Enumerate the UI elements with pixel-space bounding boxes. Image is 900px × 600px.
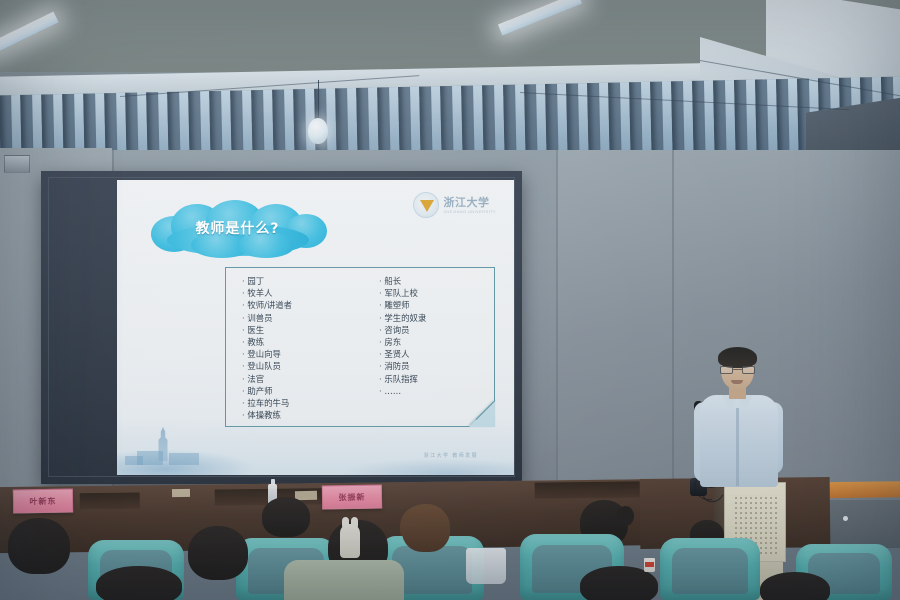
audience-bag — [466, 548, 506, 584]
podium-perforation — [760, 542, 762, 544]
nameplate-right-label: 张振新 — [338, 491, 365, 502]
podium-perforation — [755, 517, 757, 519]
ceiling — [0, 0, 900, 170]
podium-perforation — [745, 512, 747, 514]
slide-list-item: 助产师 — [242, 385, 357, 397]
audience-head — [262, 497, 310, 537]
wall-seam-b — [672, 150, 674, 480]
podium-perforation — [770, 517, 772, 519]
slide-list-item: 乐队指挥 — [379, 373, 494, 385]
slide-title-text: 教师是什么? — [145, 218, 330, 238]
pendant-cord — [318, 80, 319, 122]
wall-seam-a — [556, 150, 558, 480]
podium-perforation — [770, 527, 772, 529]
podium-perforation — [775, 552, 777, 554]
pendant-lamp-icon — [308, 118, 328, 144]
podium-perforation — [770, 552, 772, 554]
podium-perforation — [735, 532, 737, 534]
presentation-slide[interactable]: 教师是什么? 浙江大学 ZHEJIANG UNIVERSITY 园丁牧羊人牧师/… — [117, 180, 514, 475]
podium-perforation — [765, 522, 767, 524]
slide-list-item: 学生的奴隶 — [379, 312, 494, 324]
podium-perforation — [755, 527, 757, 529]
slide-list-column-left: 园丁牧羊人牧师/讲道者训兽员医生教练登山向导登山队员法官助产师拉车的牛马体操教练 — [226, 275, 357, 426]
slide-list-item: 船长 — [379, 275, 494, 287]
slide-list-item: 牧羊人 — [242, 287, 357, 299]
podium-perforation — [775, 522, 777, 524]
podium-perforation — [765, 552, 767, 554]
podium-perforation — [765, 542, 767, 544]
raised-hand-icon — [340, 524, 360, 558]
podium-perforation — [745, 532, 747, 534]
audience-head — [188, 526, 248, 580]
podium-perforation — [740, 532, 742, 534]
podium-perforation — [770, 512, 772, 514]
podium-perforation — [755, 512, 757, 514]
podium-perforation — [760, 532, 762, 534]
slide-list-item: 拉车的牛马 — [242, 397, 357, 409]
podium-perforation — [765, 532, 767, 534]
podium-perforation — [770, 547, 772, 549]
podium-perforation — [765, 547, 767, 549]
podium-perforation — [770, 532, 772, 534]
slide-list-item: 园丁 — [242, 275, 357, 287]
speaker-shirt — [700, 395, 778, 487]
podium-perforation — [745, 527, 747, 529]
slide-list-item: 消防员 — [379, 360, 494, 372]
podium-perforation — [750, 532, 752, 534]
slide-list-item: 军队上校 — [379, 287, 494, 299]
speaker-person — [690, 350, 800, 510]
podium-perforation — [765, 527, 767, 529]
podium-perforation — [770, 542, 772, 544]
podium-perforation — [740, 527, 742, 529]
podium-perforation — [775, 542, 777, 544]
paper-cup-icon — [644, 558, 655, 572]
podium-perforation — [760, 547, 762, 549]
slide-list-item: 法官 — [242, 373, 357, 385]
slide-footer-text: 浙江大学 教师发展 — [424, 452, 478, 459]
desk-paper-right — [172, 489, 190, 497]
slide-list-item: 咨询员 — [379, 324, 494, 336]
podium-perforation — [765, 537, 767, 539]
podium-perforation — [760, 517, 762, 519]
nameplate-right: 张振新 — [322, 484, 382, 509]
podium-perforation — [745, 517, 747, 519]
podium-perforation — [775, 517, 777, 519]
slide-list-item: 登山向导 — [242, 348, 357, 360]
audience-person-torso — [284, 560, 404, 600]
slide-list-item: 圣贤人 — [379, 348, 494, 360]
logo-english-name: ZHEJIANG UNIVERSITY — [444, 210, 497, 214]
university-emblem-icon — [413, 192, 439, 218]
university-logo: 浙江大学 ZHEJIANG UNIVERSITY — [413, 192, 497, 218]
podium-perforation — [745, 522, 747, 524]
podium-perforation — [775, 547, 777, 549]
podium-perforation — [760, 512, 762, 514]
slide-list-item: 教练 — [242, 336, 357, 348]
slide-list-item: 牧师/讲道者 — [242, 299, 357, 311]
podium-perforation — [755, 537, 757, 539]
slide-list-item: 房东 — [379, 336, 494, 348]
podium-perforation — [755, 532, 757, 534]
podium-perforation — [740, 512, 742, 514]
slide-list-item: 登山队员 — [242, 360, 357, 372]
slide-list-item: 雕塑师 — [379, 299, 494, 311]
glasses-icon — [720, 366, 755, 374]
podium-perforation — [775, 527, 777, 529]
podium-perforation — [765, 517, 767, 519]
podium-perforation — [750, 517, 752, 519]
podium-perforation — [775, 537, 777, 539]
podium-perforation — [775, 512, 777, 514]
slide-list-item: 医生 — [242, 324, 357, 336]
podium-perforation — [770, 537, 772, 539]
audience-head — [402, 504, 450, 552]
wall-indicator-dot — [843, 516, 848, 521]
podium-perforation — [770, 522, 772, 524]
podium-perforation — [750, 522, 752, 524]
wall-speaker-box — [4, 155, 30, 173]
slide-title-cloud: 教师是什么? — [145, 198, 330, 260]
slide-list-item: …… — [379, 385, 494, 397]
podium-perforation — [740, 517, 742, 519]
podium-perforation — [735, 517, 737, 519]
podium-perforation — [765, 512, 767, 514]
podium-perforation — [755, 522, 757, 524]
podium-perforation — [750, 527, 752, 529]
speaker-hair — [718, 347, 757, 368]
podium-perforation — [735, 522, 737, 524]
podium-perforation — [735, 527, 737, 529]
slide-watercolor-art — [117, 417, 514, 475]
slide-list-item: 训兽员 — [242, 312, 357, 324]
slide-list-box: 园丁牧羊人牧师/讲道者训兽员医生教练登山向导登山队员法官助产师拉车的牛马体操教练… — [225, 267, 495, 427]
lecture-hall-photo: 教师是什么? 浙江大学 ZHEJIANG UNIVERSITY 园丁牧羊人牧师/… — [0, 0, 900, 600]
podium-perforation — [750, 512, 752, 514]
audience-head — [760, 572, 830, 600]
podium-perforation — [740, 522, 742, 524]
podium-perforation — [735, 512, 737, 514]
podium-perforation — [760, 552, 762, 554]
podium-perforation — [775, 532, 777, 534]
speaker-shirt-placket — [736, 408, 739, 486]
nameplate-left: 叶新东 — [13, 488, 73, 513]
podium-perforation — [760, 522, 762, 524]
nameplate-left-label: 叶新东 — [29, 495, 56, 506]
audience-head — [8, 518, 70, 574]
logo-chinese-name: 浙江大学 — [444, 197, 497, 208]
podium-perforation — [760, 537, 762, 539]
podium-perforation — [760, 527, 762, 529]
audience-head — [96, 566, 182, 600]
